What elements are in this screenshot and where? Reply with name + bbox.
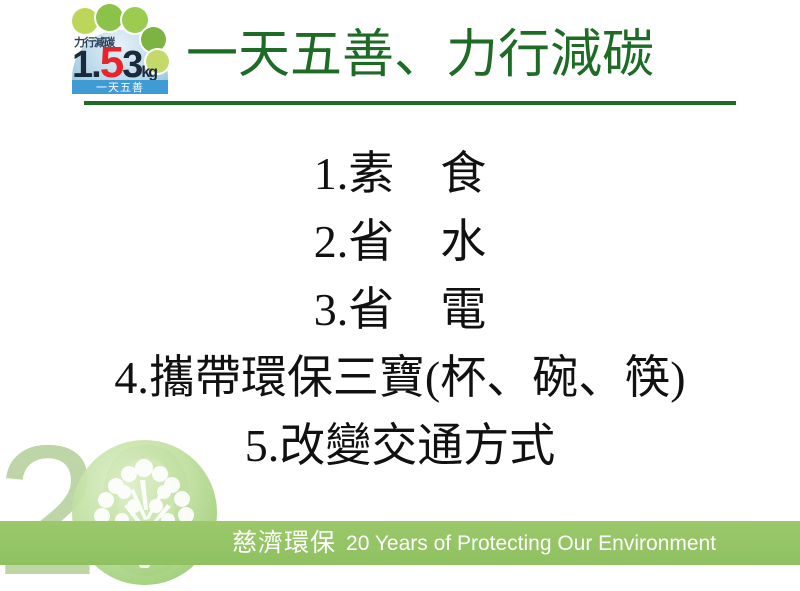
watering-can-icon xyxy=(72,8,98,34)
footer-chinese-label: 慈濟環保 xyxy=(232,531,336,556)
bamboo-icon xyxy=(96,4,123,31)
badge-band-text: 一天五善 xyxy=(96,79,144,95)
list-item: 2.省 水 xyxy=(0,208,800,276)
list-item: 4.攜帶環保三寶(杯、碗、筷) xyxy=(0,344,800,412)
content-list: 1.素 食 2.省 水 3.省 電 4.攜帶環保三寶(杯、碗、筷) 5.改變交通… xyxy=(0,140,800,480)
list-item: 3.省 電 xyxy=(0,276,800,344)
footer-english-label: 20 Years of Protecting Our Environment xyxy=(346,533,716,554)
badge-band: 一天五善 xyxy=(72,80,168,94)
carbon-reduction-badge: 力行減碳 1.53kg 一天五善 xyxy=(66,4,174,96)
slide: 20 xyxy=(0,0,800,591)
title-divider xyxy=(84,101,736,105)
page-title: 一天五善、力行減碳 xyxy=(186,24,654,88)
list-item: 1.素 食 xyxy=(0,140,800,208)
list-item: 5.改變交通方式 xyxy=(0,412,800,480)
footer-text: 慈濟環保 20 Years of Protecting Our Environm… xyxy=(232,521,716,565)
earth-icon xyxy=(122,7,148,33)
